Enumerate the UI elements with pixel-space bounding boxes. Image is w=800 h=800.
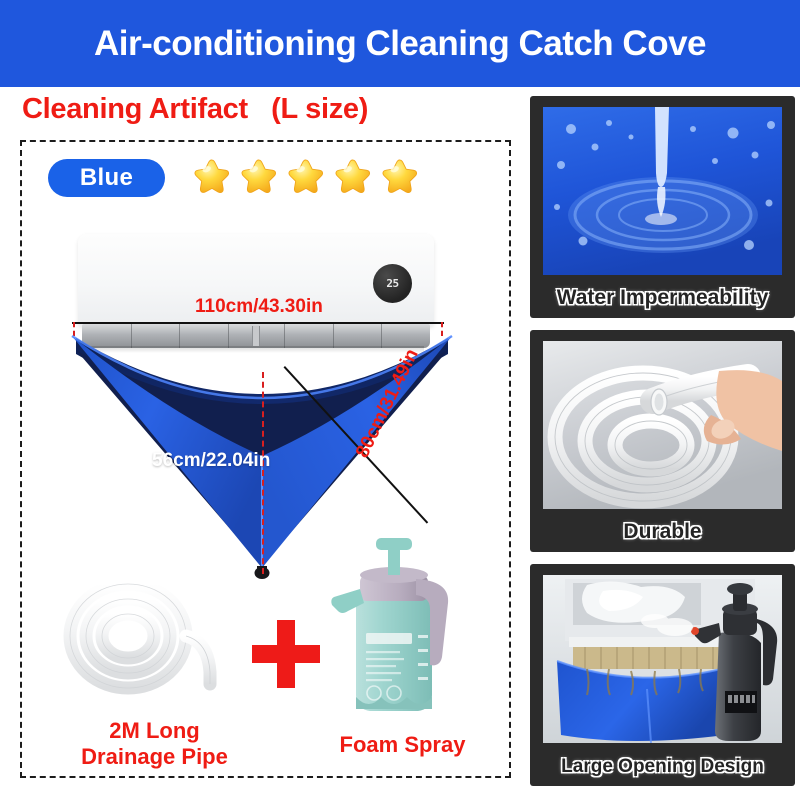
rating-stars (191, 157, 421, 199)
drainage-pipe-caption-line2: Drainage Pipe (62, 744, 247, 770)
drainage-pipe-caption-line1: 2M Long (62, 718, 247, 744)
water-splash-photo (543, 107, 782, 275)
ac-temperature-display: 25 (373, 264, 412, 303)
width-measurement-line (72, 322, 444, 324)
corrugated-hose-photo (543, 341, 782, 509)
depth-measurement-label: 56cm/22.04in (152, 450, 270, 472)
feature-caption-durable: Durable (530, 520, 795, 544)
drainage-pipe-caption: 2M Long Drainage Pipe (62, 718, 247, 770)
color-badge-label: Blue (80, 164, 133, 192)
product-infographic: Air-conditioning Cleaning Catch Cove Cle… (0, 0, 800, 800)
star-icon (379, 157, 421, 199)
plus-symbol (252, 620, 320, 688)
color-and-rating-row: Blue (48, 157, 421, 199)
page-title: Air-conditioning Cleaning Catch Cove (94, 24, 706, 64)
star-icon (191, 157, 233, 199)
feature-panel-durable: Durable (530, 330, 795, 552)
color-badge[interactable]: Blue (48, 159, 165, 197)
star-icon (332, 157, 374, 199)
drainage-pipe-image (58, 572, 230, 700)
ac-temperature-value: 25 (386, 277, 398, 290)
feature-panel-water-impermeability: Water Impermeability (530, 96, 795, 318)
cover-in-use-photo (543, 575, 782, 743)
feature-caption-water-impermeability: Water Impermeability (530, 286, 795, 310)
feature-caption-large-opening-design: Large Opening Design (530, 756, 795, 778)
star-icon (238, 157, 280, 199)
width-measurement-label: 110cm/43.30in (195, 296, 323, 318)
section-heading: Cleaning Artifact (L size) (22, 93, 368, 126)
star-icon (285, 157, 327, 199)
foam-spray-caption: Foam Spray (315, 732, 490, 758)
depth-guide-line (262, 372, 264, 574)
header-banner: Air-conditioning Cleaning Catch Cove (0, 0, 800, 87)
foam-spray-image (330, 537, 462, 722)
feature-panel-large-opening-design: Large Opening Design (530, 564, 795, 786)
